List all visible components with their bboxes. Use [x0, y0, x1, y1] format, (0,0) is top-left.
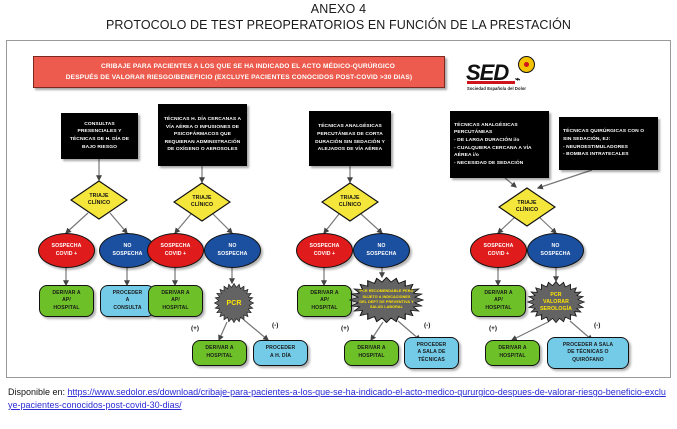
triage-label: TRIAJE CLÍNICO	[321, 182, 379, 222]
triage-label: TRIAJE CLÍNICO	[498, 187, 556, 227]
outcome-derivar-col3[interactable]: DERIVAR A AP/ HOSPITAL	[297, 285, 352, 317]
no-suspect-ellipse-col2[interactable]: NO SOSPECHA	[204, 233, 261, 268]
outcome-derivar-col1[interactable]: DERIVAR A AP/ HOSPITAL	[39, 285, 94, 317]
sign-negative-col3: (-)	[424, 322, 430, 329]
sign-negative-col4: (-)	[594, 322, 600, 329]
pcr-serology-burst-col4[interactable]: PCR VALORAR SEROLOGÍA	[527, 281, 585, 323]
swoosh-icon: ⌁	[515, 74, 520, 85]
sign-positive-col2: (+)	[191, 325, 199, 332]
outcome-derivar-col2[interactable]: DERIVAR A AP/ HOSPITAL	[148, 285, 203, 317]
sign-positive-col3: (+)	[341, 325, 349, 332]
no-suspect-ellipse-col4[interactable]: NO SOSPECHA	[527, 233, 584, 268]
source-box-col4-b: TÉCNICAS QUIRÚRGICAS CON O SIN SEDACIÓN,…	[559, 117, 658, 170]
test-positive-outcome-col3[interactable]: DERIVAR A HOSPITAL	[344, 340, 399, 366]
pcr-burst-col3[interactable]: PCR RECOMENDABLE PERO SUJETO A INDICACIO…	[349, 277, 424, 323]
suspect-covid-ellipse-col3[interactable]: SOSPECHA COVID +	[296, 233, 353, 268]
suspect-covid-ellipse-col2[interactable]: SOSPECHA COVID +	[147, 233, 204, 268]
test-positive-outcome-col2[interactable]: DERIVAR A HOSPITAL	[192, 340, 247, 366]
source-box-col4-a: TÉCNICAS ANALGÉSICAS PERCUTÁNEAS - DE LA…	[450, 111, 549, 178]
suspect-covid-ellipse-col1[interactable]: SOSPECHA COVID +	[38, 233, 95, 268]
target-icon	[518, 56, 535, 73]
sed-logo-subtitle: Sociedad Española del Dolor	[467, 86, 526, 91]
triage-diamond-col3[interactable]: TRIAJE CLÍNICO	[321, 182, 379, 222]
triage-diamond-col1[interactable]: TRIAJE CLÍNICO	[70, 180, 128, 220]
protocol-diagram-page: ANEXO 4 PROTOCOLO DE TEST PREOPERATORIOS…	[0, 0, 677, 429]
outcome-consulta-col1[interactable]: PROCEDER A CONSULTA	[100, 285, 155, 317]
sign-positive-col4: (+)	[489, 325, 497, 332]
triage-diamond-col4[interactable]: TRIAJE CLÍNICO	[498, 187, 556, 227]
pcr-recommendation-label: PCR RECOMENDABLE PERO SUJETO A INDICACIO…	[349, 277, 424, 323]
outcome-derivar-col4[interactable]: DERIVAR A AP/ HOSPITAL	[471, 285, 526, 317]
test-positive-outcome-col4[interactable]: DERIVAR A HOSPITAL	[485, 340, 540, 366]
no-suspect-ellipse-col3[interactable]: NO SOSPECHA	[353, 233, 410, 268]
test-negative-outcome-col2[interactable]: PROCEDER A H. DÍA	[253, 340, 308, 366]
triage-diamond-col2[interactable]: TRIAJE CLÍNICO	[173, 182, 231, 222]
test-negative-outcome-col4[interactable]: PROCEDER A SALA DE TÉCNICAS O QUIRÓFANO	[547, 337, 629, 369]
source-box-col3: TÉCNICAS ANALGÉSICAS PERCUTÁNEAS DE CORT…	[309, 111, 391, 166]
pcr-serology-label: PCR VALORAR SEROLOGÍA	[527, 281, 585, 323]
pcr-burst-col2[interactable]: PCR	[210, 283, 258, 323]
sign-negative-col2: (-)	[272, 322, 278, 329]
source-link-footer: Disponible en: https://www.sedolor.es/do…	[8, 386, 668, 412]
page-title-line1: ANEXO 4	[0, 2, 677, 17]
banner-line2: DESPUÉS DE VALORAR RIESGO/BENEFICIO (EXC…	[34, 72, 444, 83]
page-title-line2: PROTOCOLO DE TEST PREOPERATORIOS EN FUNC…	[0, 17, 677, 33]
source-url-link[interactable]: https://www.sedolor.es/download/cribaje-…	[8, 387, 666, 410]
triage-label: TRIAJE CLÍNICO	[173, 182, 231, 222]
test-negative-outcome-col3[interactable]: PROCEDER A SALA DE TÉCNICAS	[404, 337, 459, 369]
page-title: ANEXO 4 PROTOCOLO DE TEST PREOPERATORIOS…	[0, 2, 677, 33]
banner-cribaje: CRIBAJE PARA PACIENTES A LOS QUE SE HA I…	[33, 56, 445, 88]
sed-logo: SED ⌁ Sociedad Española del Dolor	[466, 55, 566, 97]
banner-line1: CRIBAJE PARA PACIENTES A LOS QUE SE HA I…	[34, 61, 444, 72]
triage-label: TRIAJE CLÍNICO	[70, 180, 128, 220]
pcr-label: PCR	[210, 283, 258, 323]
source-box-col1: CONSULTAS PRESENCIALES Y TÉCNICAS DE H. …	[61, 113, 138, 159]
suspect-covid-ellipse-col4[interactable]: SOSPECHA COVID +	[470, 233, 527, 268]
sed-logo-underline	[467, 81, 515, 84]
source-box-col2: TÉCNICAS H. DÍA CERCANAS A VÍA AÉREA O I…	[158, 104, 247, 166]
footer-label: Disponible en:	[8, 387, 68, 397]
